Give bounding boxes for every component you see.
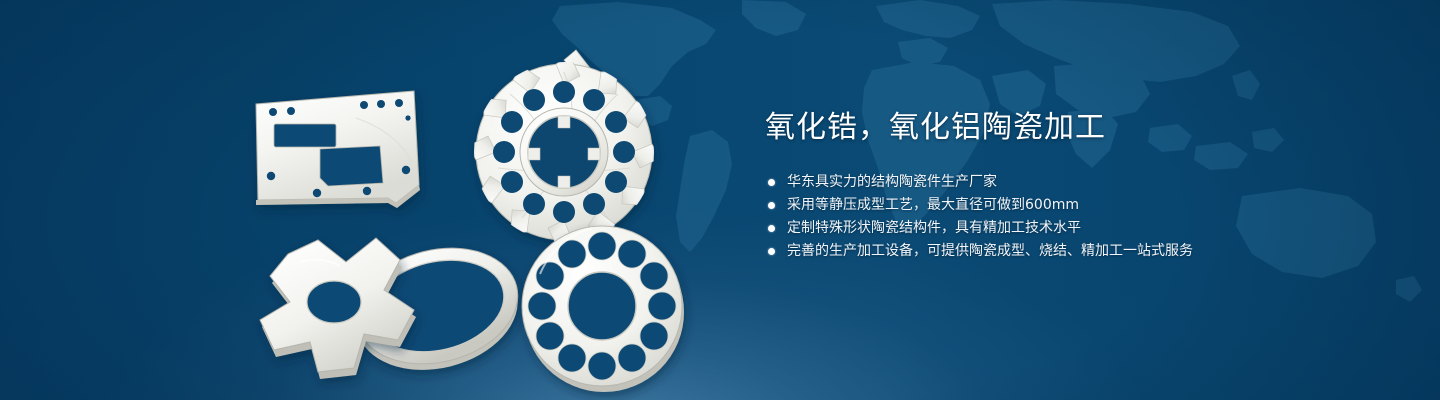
list-item: 定制特殊形状陶瓷结构件，具有精加工技术水平 (768, 217, 1365, 240)
ceramic-processing-banner: 氧化锆，氧化铝陶瓷加工 华东具实力的结构陶瓷件生产厂家 采用等静压成型工艺，最大… (0, 0, 1440, 400)
copy-block: 氧化锆，氧化铝陶瓷加工 华东具实力的结构陶瓷件生产厂家 采用等静压成型工艺，最大… (765, 108, 1365, 263)
ceramic-impeller-shape (468, 50, 660, 248)
bullet-dot-icon (768, 248, 775, 255)
list-item-label: 采用等静压成型工艺，最大直径可做到600mm (787, 197, 1079, 213)
list-item: 华东具实力的结构陶瓷件生产厂家 (768, 171, 1365, 194)
bullet-dot-icon (768, 225, 775, 232)
feature-list: 华东具实力的结构陶瓷件生产厂家 采用等静压成型工艺，最大直径可做到600mm 定… (768, 171, 1365, 263)
bullet-dot-icon (768, 179, 775, 186)
list-item: 完善的生产加工设备，可提供陶瓷成型、烧结、精加工一站式服务 (768, 240, 1365, 263)
list-item-label: 完善的生产加工设备，可提供陶瓷成型、烧结、精加工一站式服务 (787, 243, 1193, 259)
ceramic-products-image (236, 40, 706, 385)
bullet-dot-icon (768, 202, 775, 209)
list-item: 采用等静压成型工艺，最大直径可做到600mm (768, 194, 1365, 217)
ceramic-flat-plate-shape (256, 91, 420, 208)
list-item-label: 定制特殊形状陶瓷结构件，具有精加工技术水平 (787, 220, 1081, 236)
page-title: 氧化锆，氧化铝陶瓷加工 (765, 108, 1365, 148)
ceramic-perforated-disc-shape (522, 226, 684, 392)
list-item-label: 华东具实力的结构陶瓷件生产厂家 (787, 174, 997, 190)
